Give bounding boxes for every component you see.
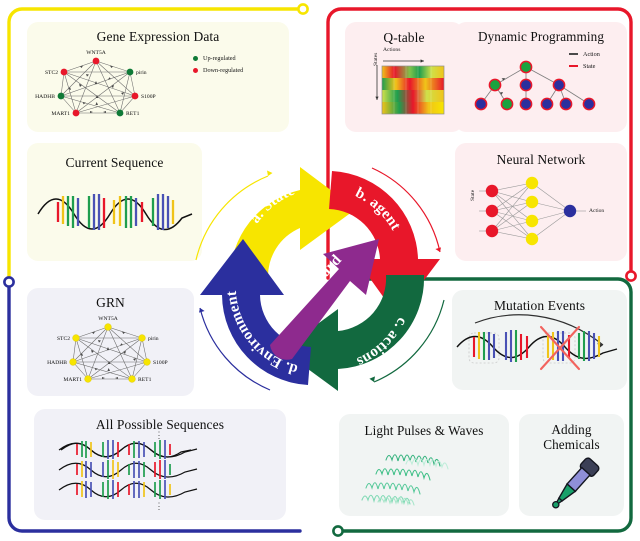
mutation-events-title: Mutation Events — [494, 298, 585, 313]
gene-label-s100p: S100P — [141, 94, 156, 100]
dynamic-programming-title: Dynamic Programming — [478, 30, 604, 45]
q-table-heatmap: Actions States — [352, 48, 456, 120]
grn-label-mart1: MART1 — [63, 377, 82, 383]
action-line-icon — [569, 53, 578, 55]
legend-label-down: Down-regulated — [203, 67, 243, 74]
state-line-icon — [569, 65, 578, 67]
gene-label-ret1: RET1 — [126, 111, 140, 117]
neural-network-input-label: State — [470, 190, 476, 201]
grn-network: WNT5A STC2 pirin HADHB S100P MART1 RET1 — [36, 311, 186, 389]
q-table-x-axis-label: Actions — [383, 47, 400, 53]
gene-label-pirin: pirin — [136, 70, 147, 76]
legend-item-action: Action — [569, 51, 600, 58]
mutation-events-dna — [453, 315, 625, 377]
adding-chemicals-title-line1: Adding — [551, 422, 591, 437]
legend-label-up: Up-regulated — [203, 55, 236, 62]
all-sequences-dna-stack — [55, 440, 265, 502]
legend-item-up-regulated: Up-regulated — [193, 55, 243, 62]
light-pulses-waveform — [354, 442, 494, 506]
panel-neural-network: Neural Network — [455, 143, 627, 261]
grn-label-pirin: pirin — [148, 336, 159, 342]
current-sequence-dna — [32, 184, 197, 240]
all-sequences-ellipsis-top: ⋮ — [155, 433, 166, 438]
gene-expression-legend: Up-regulated Down-regulated — [193, 55, 243, 74]
panel-grn: GRN — [27, 288, 194, 396]
panel-adding-chemicals: Adding Chemicals — [519, 414, 624, 516]
gene-label-stc2: STC2 — [45, 70, 58, 76]
gene-expression-title: Gene Expression Data — [97, 29, 220, 44]
panel-mutation-events: Mutation Events — [452, 290, 627, 390]
grn-title: GRN — [96, 295, 125, 310]
grn-label-stc2: STC2 — [56, 336, 69, 342]
panel-dynamic-programming: Dynamic Programming — [455, 22, 627, 132]
figure-root: Gene Expression Data — [0, 0, 640, 541]
dynamic-programming-legend: Action State — [569, 51, 600, 70]
adding-chemicals-title-line2: Chemicals — [543, 437, 600, 452]
grn-label-hadhb: HADHB — [47, 360, 67, 366]
panel-current-sequence: Current Sequence — [27, 143, 202, 261]
q-table-title: Q-table — [383, 30, 424, 45]
legend-item-down-regulated: Down-regulated — [193, 67, 243, 74]
neural-network-graph: State Action — [460, 171, 622, 251]
down-regulated-dot-icon — [193, 68, 198, 73]
grn-label-ret1: RET1 — [138, 377, 152, 383]
pipette-icon — [533, 455, 611, 511]
gene-label-hadhb: HADHB — [35, 94, 55, 100]
gene-label-wnt5a: WNT5A — [86, 50, 106, 56]
legend-label-action: Action — [583, 51, 600, 58]
all-sequences-ellipsis-bottom: ⋮ — [155, 504, 166, 509]
light-pulses-title: Light Pulses & Waves — [364, 424, 483, 439]
gene-expression-network: WNT5A STC2 pirin HADHB S100P MART1 RET1 — [34, 45, 184, 123]
neural-network-output-label: Action — [589, 208, 604, 214]
grn-label-s100p: S100P — [153, 360, 168, 366]
panel-q-table: Q-table — [345, 22, 463, 132]
neural-network-title: Neural Network — [497, 152, 586, 167]
current-sequence-title: Current Sequence — [66, 155, 164, 170]
rl-cycle-diagram: a. State b. agent c. actions d. Environm… — [196, 153, 446, 403]
up-regulated-dot-icon — [193, 56, 198, 61]
grn-label-wnt5a: WNT5A — [98, 316, 118, 322]
adding-chemicals-title: Adding Chemicals — [543, 423, 600, 453]
legend-item-state: State — [569, 63, 600, 70]
dynamic-programming-tree: Action State — [461, 47, 621, 119]
legend-label-state: State — [583, 63, 595, 70]
q-table-y-axis-label: States — [373, 53, 379, 66]
panel-gene-expression: Gene Expression Data — [27, 22, 289, 132]
panel-light-pulses: Light Pulses & Waves — [339, 414, 509, 516]
gene-label-mart1: MART1 — [51, 111, 70, 117]
panel-all-sequences: All Possible Sequences ⋮ — [34, 409, 286, 520]
